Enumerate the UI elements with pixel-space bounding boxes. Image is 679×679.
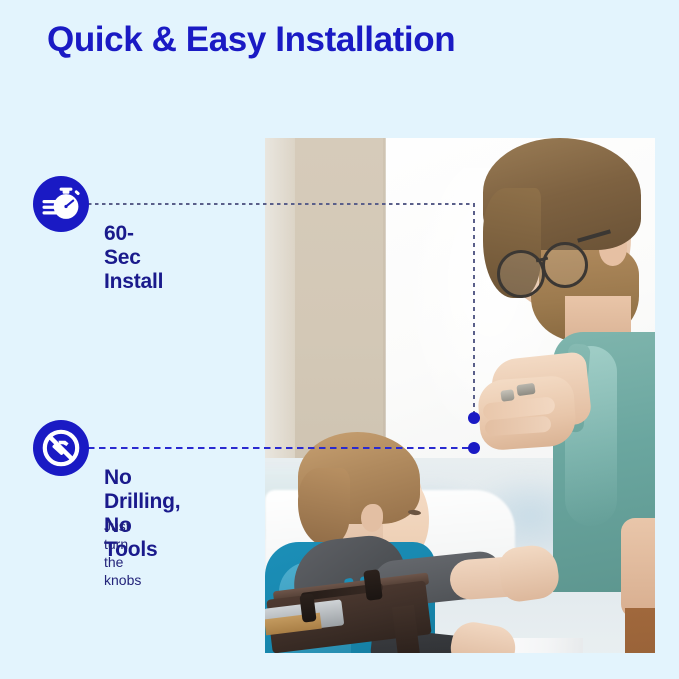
page-root: Quick & Easy Installation xyxy=(0,0,679,679)
photo-man-glasses-left xyxy=(497,250,545,298)
photo-man-glasses-right xyxy=(542,242,588,288)
connector-no-tools-endpoint-dot xyxy=(468,442,480,454)
no-hammer-icon-glyph xyxy=(33,420,89,476)
no-hammer-icon xyxy=(33,420,89,476)
photo-man-pants xyxy=(625,608,655,653)
installation-photo xyxy=(265,138,655,653)
stopwatch-speed-icon-glyph xyxy=(33,176,89,232)
connector-speed-horizontal xyxy=(88,203,474,205)
photo-wall-seam xyxy=(383,138,386,468)
connector-speed-vertical xyxy=(473,203,475,417)
page-title: Quick & Easy Installation xyxy=(47,19,455,61)
connector-no-tools-horizontal xyxy=(88,447,474,449)
photo-man-lower-arm xyxy=(621,518,655,618)
feature-no-tools-subtitle: Just turn the knobs xyxy=(104,517,141,589)
feature-speed-title: 60-Sec Install xyxy=(104,222,163,294)
stopwatch-speed-icon xyxy=(33,176,89,232)
connector-speed-endpoint-dot xyxy=(468,412,480,424)
photo-boy-ear xyxy=(361,504,383,532)
photo-man-ring-2 xyxy=(500,389,514,402)
photo-wall-edge xyxy=(265,138,295,468)
